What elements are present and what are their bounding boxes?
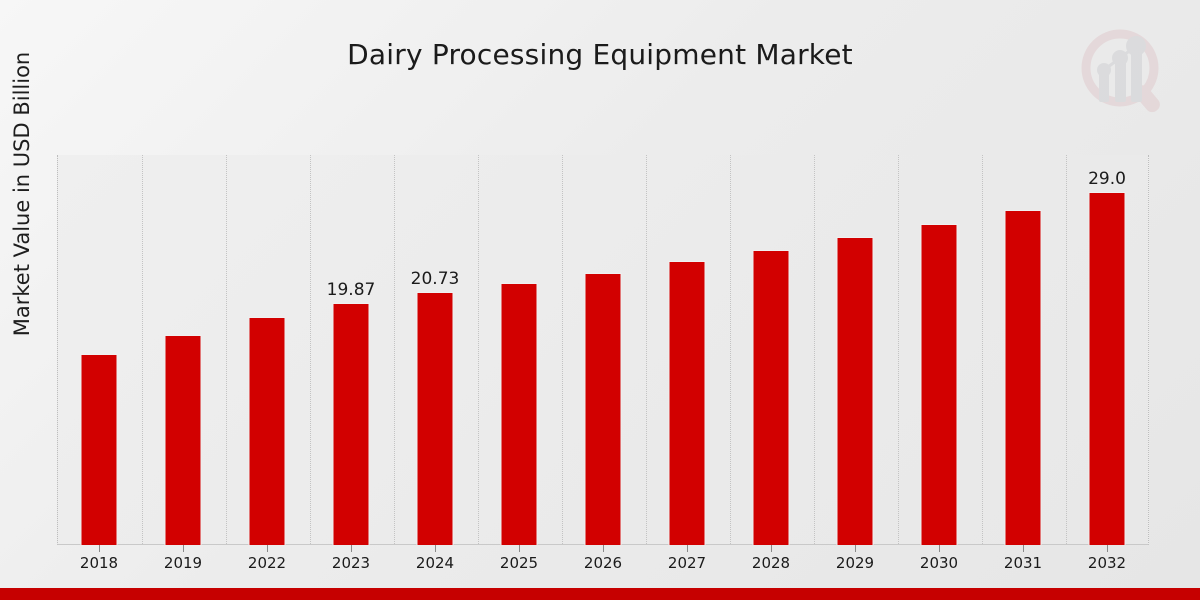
x-tick-mark — [351, 545, 352, 552]
market-research-future-logo — [1070, 22, 1178, 122]
chart-figure: Dairy Processing Equipment Market Market… — [0, 0, 1200, 600]
bar-2022[interactable] — [249, 317, 286, 545]
bar-2028[interactable] — [753, 250, 790, 545]
bar-slot — [981, 155, 1065, 545]
logo-icon — [1070, 22, 1178, 122]
bar-slot — [477, 155, 561, 545]
bar-slot: 29.0 — [1065, 155, 1149, 545]
bar-2032[interactable] — [1089, 192, 1126, 545]
bar-slot — [57, 155, 141, 545]
bar-slot — [645, 155, 729, 545]
bar-2030[interactable] — [921, 224, 958, 545]
x-tick-label-2022: 2022 — [248, 554, 286, 572]
bar-value-label-2023: 19.87 — [327, 280, 376, 300]
x-tick-label-2031: 2031 — [1004, 554, 1042, 572]
bar-2027[interactable] — [669, 261, 706, 545]
bar-2025[interactable] — [501, 283, 538, 545]
x-tick-label-2024: 2024 — [416, 554, 454, 572]
bar-2018[interactable] — [81, 354, 118, 545]
bar-slot — [141, 155, 225, 545]
x-tick-mark — [855, 545, 856, 552]
x-tick-mark — [183, 545, 184, 552]
x-tick-label-2030: 2030 — [920, 554, 958, 572]
bar-value-label-2032: 29.0 — [1088, 169, 1126, 189]
bar-2019[interactable] — [165, 335, 202, 545]
bar-slot: 19.87 — [309, 155, 393, 545]
bars-layer: 19.8720.7329.0 — [57, 155, 1149, 545]
bar-2031[interactable] — [1005, 210, 1042, 545]
x-tick-label-2023: 2023 — [332, 554, 370, 572]
page-title: Dairy Processing Equipment Market — [0, 38, 1200, 71]
x-tick-mark — [435, 545, 436, 552]
x-tick-label-2026: 2026 — [584, 554, 622, 572]
x-tick-label-2029: 2029 — [836, 554, 874, 572]
bar-2029[interactable] — [837, 237, 874, 545]
bar-slot — [897, 155, 981, 545]
x-tick-mark — [1107, 545, 1108, 552]
x-tick-mark — [1023, 545, 1024, 552]
bar-slot: 20.73 — [393, 155, 477, 545]
x-tick-mark — [519, 545, 520, 552]
x-tick-mark — [687, 545, 688, 552]
x-tick-label-2032: 2032 — [1088, 554, 1126, 572]
x-axis: 2018201920222023202420252026202720282029… — [57, 545, 1149, 579]
x-tick-mark — [939, 545, 940, 552]
bar-slot — [561, 155, 645, 545]
x-tick-mark — [99, 545, 100, 552]
x-tick-mark — [603, 545, 604, 552]
footer-accent-bar — [0, 588, 1200, 600]
bar-2023[interactable] — [333, 303, 370, 545]
bar-2024[interactable] — [417, 292, 454, 545]
bar-slot — [729, 155, 813, 545]
x-tick-label-2018: 2018 — [80, 554, 118, 572]
x-tick-label-2028: 2028 — [752, 554, 790, 572]
bar-value-label-2024: 20.73 — [411, 269, 460, 289]
x-tick-label-2027: 2027 — [668, 554, 706, 572]
x-tick-label-2019: 2019 — [164, 554, 202, 572]
bar-2026[interactable] — [585, 273, 622, 545]
x-tick-label-2025: 2025 — [500, 554, 538, 572]
bar-slot — [225, 155, 309, 545]
y-axis-title: Market Value in USD Billion — [10, 4, 34, 384]
bar-slot — [813, 155, 897, 545]
x-tick-mark — [771, 545, 772, 552]
x-tick-mark — [267, 545, 268, 552]
